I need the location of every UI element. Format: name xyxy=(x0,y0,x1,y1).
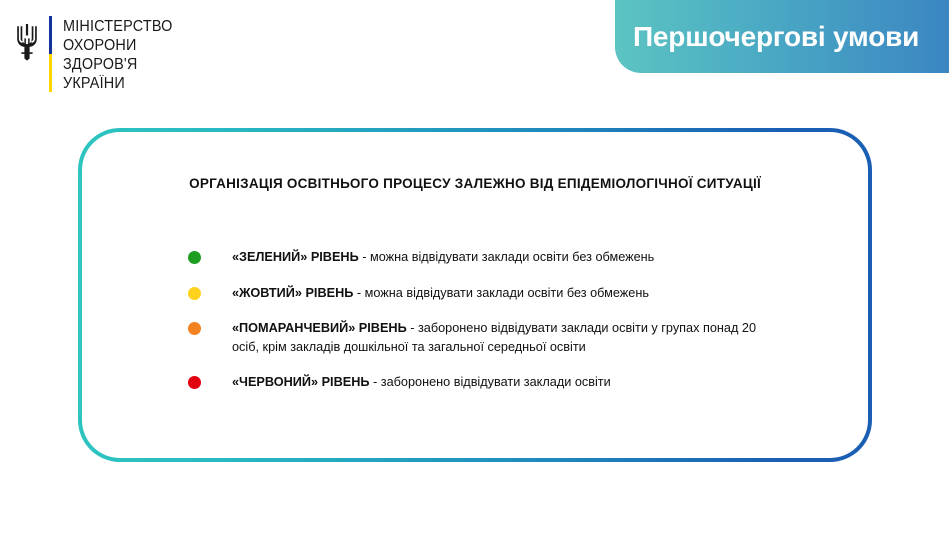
level-text: «ЧЕРВОНИЙ» РІВЕНЬ - заборонено відвідува… xyxy=(232,373,611,392)
ministry-line-2: ОХОРОНИ xyxy=(63,36,173,55)
level-text: «ЖОВТИЙ» РІВЕНЬ - можна відвідувати закл… xyxy=(232,284,649,303)
level-text: «ЗЕЛЕНИЙ» РІВЕНЬ - можна відвідувати зак… xyxy=(232,248,654,267)
level-description: - можна відвідувати заклади освіти без о… xyxy=(353,286,649,300)
ukraine-trident-emblem xyxy=(14,22,40,62)
level-name: «ЖОВТИЙ» РІВЕНЬ xyxy=(232,286,353,300)
list-item: «ЧЕРВОНИЙ» РІВЕНЬ - заборонено відвідува… xyxy=(188,373,828,392)
ministry-logo: МІНІСТЕРСТВО ОХОРОНИ ЗДОРОВ'Я УКРАЇНИ xyxy=(14,16,181,96)
level-description: - можна відвідувати заклади освіти без о… xyxy=(359,250,655,264)
level-text: «ПОМАРАНЧЕВИЙ» РІВЕНЬ - заборонено відві… xyxy=(232,319,772,356)
ministry-line-3: ЗДОРОВ'Я xyxy=(63,55,173,74)
level-name: «ПОМАРАНЧЕВИЙ» РІВЕНЬ xyxy=(232,321,407,335)
ministry-line-4: УКРАЇНИ xyxy=(63,74,173,93)
list-item: «ПОМАРАНЧЕВИЙ» РІВЕНЬ - заборонено відві… xyxy=(188,319,828,356)
card-heading: ОРГАНІЗАЦІЯ ОСВІТНЬОГО ПРОЦЕСУ ЗАЛЕЖНО В… xyxy=(82,176,868,191)
yellow-level-bullet xyxy=(188,287,201,300)
level-description: - заборонено відвідувати заклади освіти xyxy=(370,375,611,389)
slide-title: Першочергові умови xyxy=(615,21,919,53)
epidemic-levels-list: «ЗЕЛЕНИЙ» РІВЕНЬ - можна відвідувати зак… xyxy=(188,248,828,392)
list-item: «ЗЕЛЕНИЙ» РІВЕНЬ - можна відвідувати зак… xyxy=(188,248,828,267)
orange-level-bullet xyxy=(188,322,201,335)
red-level-bullet xyxy=(188,376,201,389)
level-name: «ЧЕРВОНИЙ» РІВЕНЬ xyxy=(232,375,370,389)
list-item: «ЖОВТИЙ» РІВЕНЬ - можна відвідувати закл… xyxy=(188,284,828,303)
content-card: ОРГАНІЗАЦІЯ ОСВІТНЬОГО ПРОЦЕСУ ЗАЛЕЖНО В… xyxy=(78,128,872,462)
level-name: «ЗЕЛЕНИЙ» РІВЕНЬ xyxy=(232,250,359,264)
ministry-line-1: МІНІСТЕРСТВО xyxy=(63,17,173,36)
logo-divider xyxy=(49,16,52,92)
content-card-inner: ОРГАНІЗАЦІЯ ОСВІТНЬОГО ПРОЦЕСУ ЗАЛЕЖНО В… xyxy=(82,132,868,458)
ministry-name: МІНІСТЕРСТВО ОХОРОНИ ЗДОРОВ'Я УКРАЇНИ xyxy=(63,16,181,93)
green-level-bullet xyxy=(188,251,201,264)
slide-title-banner: Першочергові умови xyxy=(615,0,949,73)
